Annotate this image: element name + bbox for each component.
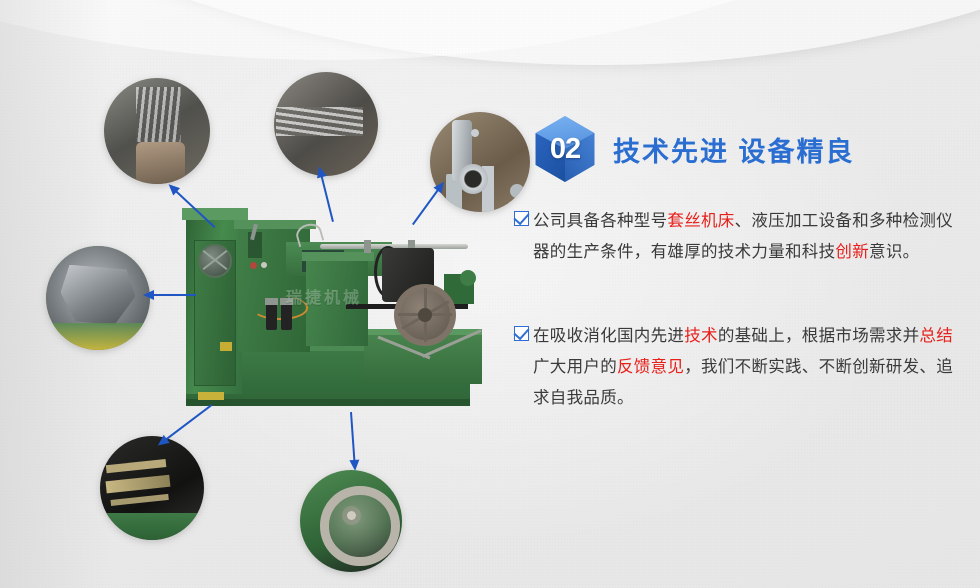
hexagon-badge: 02 [533,116,597,182]
detail-threaded-rod-horizontal-image [274,72,378,176]
body-text: 广大用户的 [533,357,617,376]
machine-tailstock-knob [460,270,476,286]
detail-threaded-rod-horizontal [274,72,378,176]
detail-die-head-chuck [46,246,150,350]
detail-hydraulic-fittings [100,436,204,540]
highlighted-text: 技术 [684,326,718,345]
highlighted-text: 套丝机床 [667,211,734,230]
photo-watermark: 瑞捷机械 [286,284,362,308]
machine-base-shadow [186,399,470,406]
highlighted-text: 反馈意见 [617,357,684,376]
highlighted-text: 创新 [835,242,869,261]
detail-threaded-rod-vertical-image [104,78,210,184]
machine-red-button [250,262,257,269]
text-content-panel: 02 技术先进 设备精良 公司具备各种型号套丝机床、液压加工设备和多种检测仪器的… [508,0,980,588]
machine-column-top [182,208,248,220]
bullet-item: 公司具备各种型号套丝机床、液压加工设备和多种检测仪器的生产条件，有雄厚的技术力量… [514,205,966,267]
bullet-text: 公司具备各种型号套丝机床、液压加工设备和多种检测仪器的生产条件，有雄厚的技术力量… [533,205,966,267]
detail-handwheel [300,470,402,572]
badge-number: 02 [533,116,597,182]
machine-head-top [302,252,374,261]
machine-yellow-marker-a [198,392,224,400]
bullet-item: 在吸收消化国内先进技术的基础上，根据市场需求并总结广大用户的反馈意见，我们不断实… [514,320,966,413]
section-header: 02 技术先进 设备精良 [533,116,855,182]
machine-yellow-marker-b [220,342,232,351]
checkbox-checked-icon [514,211,529,226]
machine-lubricator-a-cap [265,298,278,305]
machine-handwheel-hub [418,308,432,322]
body-text: 公司具备各种型号 [533,211,667,230]
page-title: 技术先进 设备精良 [613,130,855,169]
arrow-head-icon [349,460,360,472]
detail-threaded-rod-vertical [104,78,210,184]
detail-die-head-chuck-image [46,246,150,350]
highlighted-text: 总结 [919,326,953,345]
arrow-shaft [350,412,356,466]
arrow-shaft [148,294,196,296]
body-text: 意识。 [869,242,919,261]
machine-lubricator-a [266,304,277,330]
body-text: 在吸收消化国内先进 [533,326,684,345]
checkbox-checked-icon [514,326,529,341]
product-visual-panel: 瑞捷机械 [0,0,510,588]
bullet-text: 在吸收消化国内先进技术的基础上，根据市场需求并总结广大用户的反馈意见，我们不断实… [533,320,966,413]
machine-shaft-collar-a [364,240,371,253]
detail-hydraulic-fittings-image [100,436,204,540]
machine-grey-button [261,262,267,268]
body-text: 的基础上，根据市场需求并 [718,326,920,345]
threading-machine-photo: 瑞捷机械 [168,196,488,411]
detail-handwheel-image [300,470,402,572]
arrow-head-icon [143,290,154,300]
